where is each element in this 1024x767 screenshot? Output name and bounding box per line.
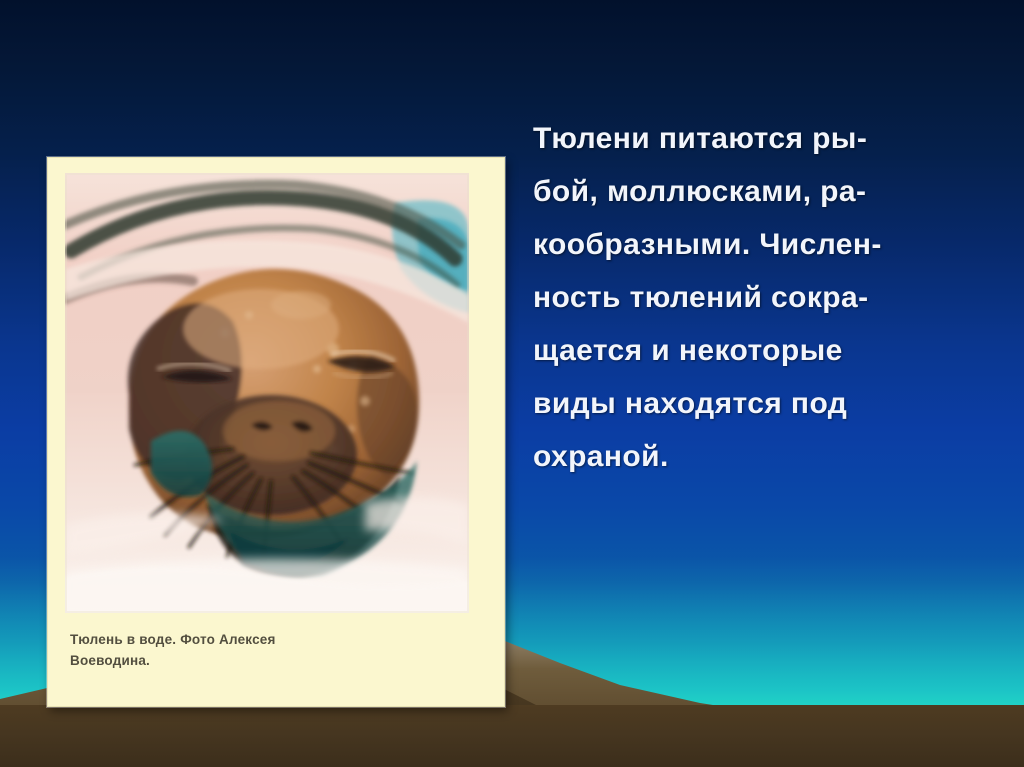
body-text-line-1: Тюлени питаются ры-	[533, 112, 963, 165]
photo-card: Тюлень в воде. Фото Алексея Воеводина.	[47, 157, 505, 707]
ground-strip	[0, 705, 1024, 767]
body-text-line-4: ность тюлений сокра-	[533, 271, 963, 324]
photo-frame	[65, 173, 469, 613]
seal-photo	[65, 173, 469, 613]
caption-line-2: Воеводина.	[70, 653, 150, 668]
slide-body-text: Тюлени питаются ры- бой, моллюсками, ра-…	[533, 112, 963, 483]
body-text-line-7: охраной.	[533, 430, 963, 483]
caption-line-1: Тюлень в воде. Фото Алексея	[70, 632, 276, 647]
photo-caption: Тюлень в воде. Фото Алексея Воеводина.	[70, 630, 450, 672]
body-text-line-5: щается и некоторые	[533, 324, 963, 377]
body-text-line-3: кообразными. Числен-	[533, 218, 963, 271]
body-text-line-2: бой, моллюсками, ра-	[533, 165, 963, 218]
body-text-line-6: виды находятся под	[533, 377, 963, 430]
presentation-slide: Тюлень в воде. Фото Алексея Воеводина. Т…	[0, 0, 1024, 767]
